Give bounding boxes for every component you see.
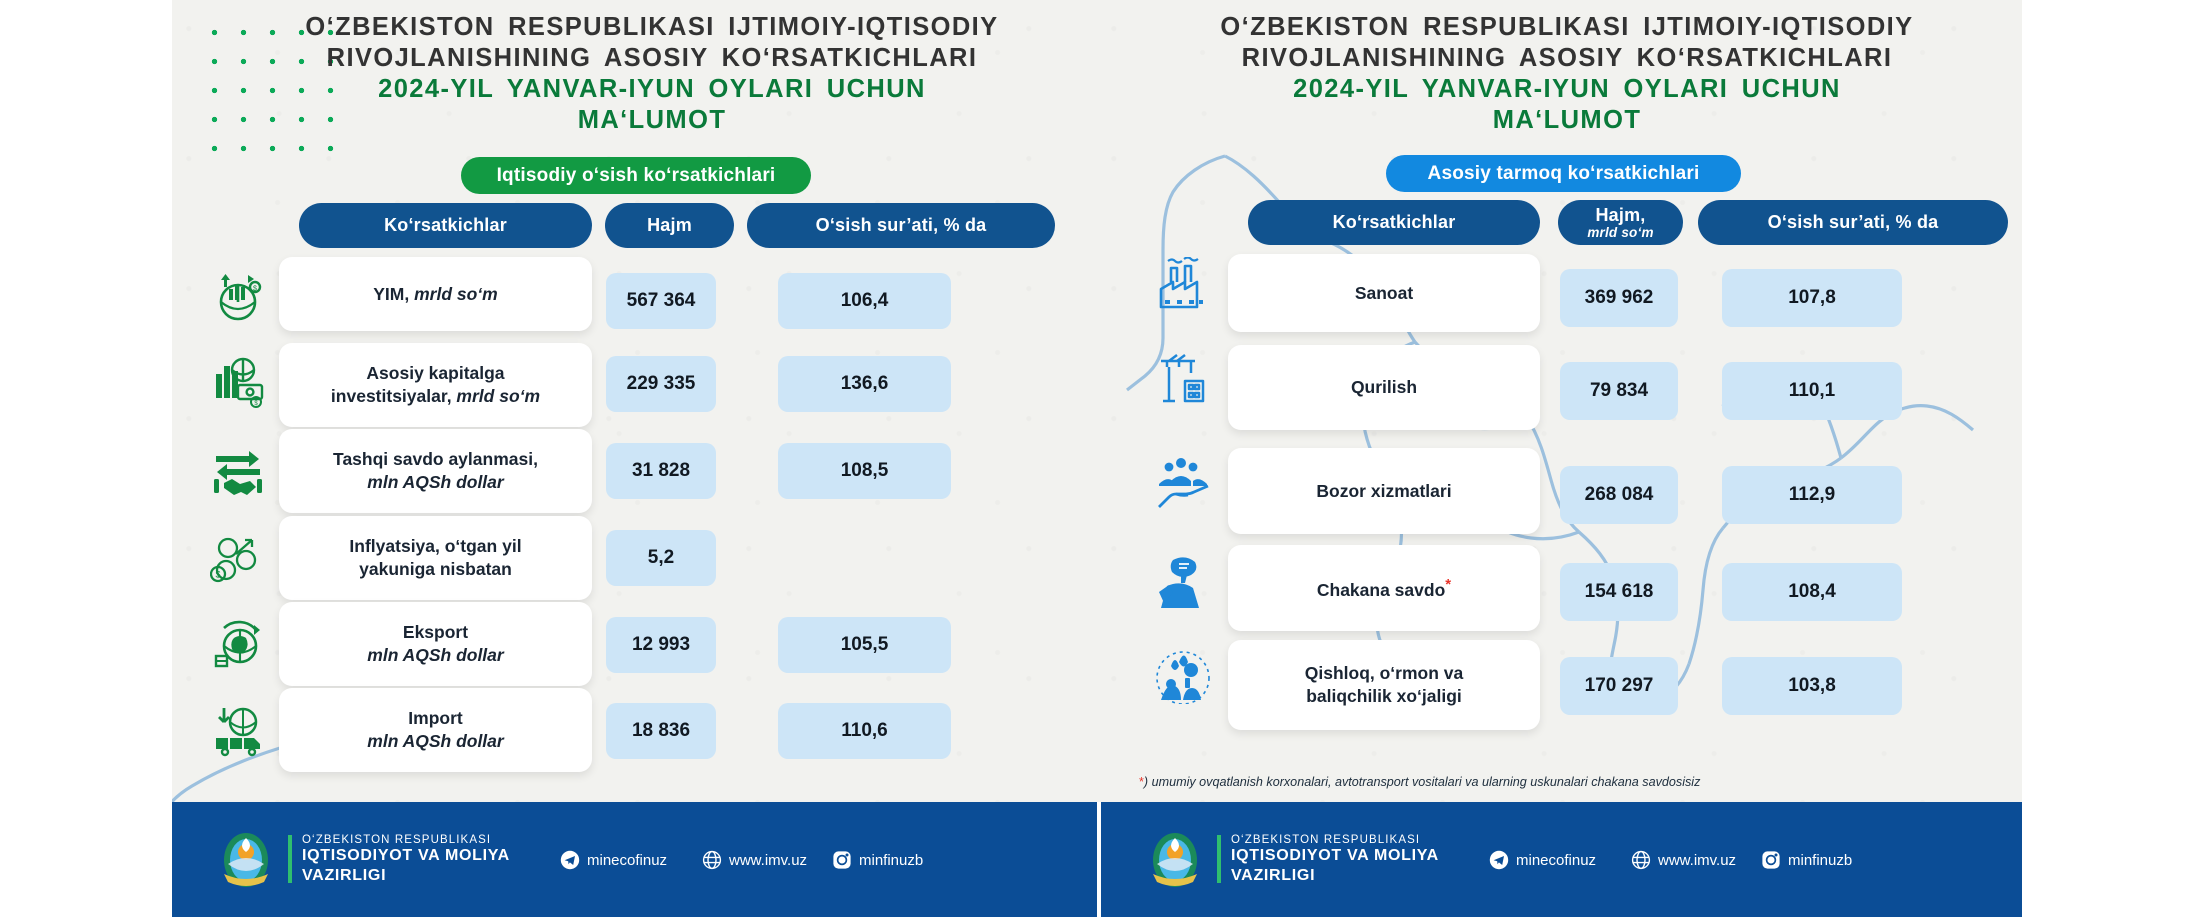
- export-globe-icon: [210, 616, 266, 672]
- row-label-card: Tashqi savdo aylanmasi, mln AQSh dollar: [279, 429, 592, 513]
- ministry-name: O‘ZBEKISTON RESPUBLIKASI IQTISODIYOT VA …: [302, 834, 510, 886]
- heading-line-1: O‘ZBEKISTON RESPUBLIKASI IJTIMOIY-IQTISO…: [1187, 12, 1947, 43]
- svg-text:$: $: [253, 286, 257, 293]
- row-label: Sanoat: [1355, 282, 1413, 305]
- row-growth-chip: 103,8: [1722, 657, 1902, 715]
- accent-bar: [288, 835, 292, 883]
- column-header-growth: O‘sish sur’ati, % da: [747, 203, 1055, 248]
- panel-heading: O‘ZBEKISTON RESPUBLIKASI IJTIMOIY-IQTISO…: [1187, 12, 1947, 136]
- row-label-card: Eksport mln AQSh dollar: [279, 602, 592, 686]
- row-label: Chakana savdo*: [1317, 575, 1451, 602]
- footer-link-label: www.imv.uz: [1658, 852, 1736, 869]
- column-header-volume: Hajm: [605, 203, 734, 248]
- trade-handshake-icon: [210, 443, 266, 499]
- row-label: Eksport mln AQSh dollar: [367, 621, 503, 667]
- footer-bar: O‘ZBEKISTON RESPUBLIKASI IQTISODIYOT VA …: [172, 802, 2022, 917]
- row-growth-chip: 105,5: [778, 617, 951, 673]
- row-label-card: Chakana savdo*: [1228, 545, 1540, 631]
- row-growth-chip: 108,4: [1722, 563, 1902, 621]
- row-growth-chip: 108,5: [778, 443, 951, 499]
- row-label: Inflyatsiya, o‘tgan yil yakuniga nisbata…: [349, 535, 521, 581]
- svg-text:$: $: [215, 570, 220, 580]
- row-volume-chip: 268 084: [1560, 466, 1678, 524]
- row-volume-chip: 154 618: [1560, 563, 1678, 621]
- footnote: *) umumiy ovqatlanish korxonalari, avtot…: [1139, 775, 1700, 789]
- section-badge-sector-indicators[interactable]: Asosiy tarmoq ko‘rsatkichlari: [1386, 155, 1741, 192]
- telegram-icon: [560, 850, 580, 870]
- footer-link-website[interactable]: www.imv.uz: [702, 850, 807, 870]
- row-growth-chip: 106,4: [778, 273, 951, 329]
- heading-line-4: MA‘LUMOT: [1187, 105, 1947, 136]
- heading-line-1: O‘ZBEKISTON RESPUBLIKASI IJTIMOIY-IQTISO…: [272, 12, 1032, 43]
- column-header-indicator: Ko‘rsatkichlar: [299, 203, 592, 248]
- crane-construction-icon: [1155, 351, 1211, 407]
- instagram-icon: [1761, 850, 1781, 870]
- row-label: Qurilish: [1351, 376, 1417, 399]
- section-badge-economic-growth[interactable]: Iqtisodiy o‘sish ko‘rsatkichlari: [461, 157, 811, 194]
- panel-economic-growth: O‘ZBEKISTON RESPUBLIKASI IJTIMOIY-IQTISO…: [172, 0, 1097, 917]
- telegram-icon: [1489, 850, 1509, 870]
- row-label: Tashqi savdo aylanmasi, mln AQSh dollar: [333, 448, 538, 494]
- row-volume-chip: 12 993: [606, 617, 716, 673]
- row-label: Qishloq, o‘rmon va baliqchilik xo‘jaligi: [1305, 662, 1464, 708]
- heading-line-3: 2024-YIL YANVAR-IYUN OYLARI UCHUN: [1187, 74, 1947, 105]
- row-label-card: Qishloq, o‘rmon va baliqchilik xo‘jaligi: [1228, 640, 1540, 730]
- footer-link-label: minfinuzb: [859, 852, 923, 869]
- footer-link-label: minecofinuz: [1516, 852, 1596, 869]
- infographic-root: O‘ZBEKISTON RESPUBLIKASI IJTIMOIY-IQTISO…: [0, 0, 2211, 917]
- row-label: Bozor xizmatlari: [1316, 480, 1451, 503]
- import-truck-icon: [210, 702, 266, 758]
- accent-bar: [1217, 835, 1221, 883]
- row-label: Asosiy kapitalga investitsiyalar, mrld s…: [331, 362, 540, 408]
- row-label-card: Inflyatsiya, o‘tgan yil yakuniga nisbata…: [279, 516, 592, 600]
- row-volume-chip: 18 836: [606, 703, 716, 759]
- retail-trade-icon: [1155, 552, 1211, 608]
- panel-heading: O‘ZBEKISTON RESPUBLIKASI IJTIMOIY-IQTISO…: [272, 12, 1032, 136]
- column-header-indicator: Ko‘rsatkichlar: [1248, 200, 1540, 245]
- footer-link-label: www.imv.uz: [729, 852, 807, 869]
- heading-line-4: MA‘LUMOT: [272, 105, 1032, 136]
- panel-sector-indicators: O‘ZBEKISTON RESPUBLIKASI IJTIMOIY-IQTISO…: [1097, 0, 2022, 917]
- footer-block-left: O‘ZBEKISTON RESPUBLIKASI IQTISODIYOT VA …: [172, 802, 1097, 917]
- row-label-card: YIM, mrld so‘m: [279, 257, 592, 331]
- asterisk-marker: *: [1445, 576, 1451, 593]
- row-growth-chip: 112,9: [1722, 466, 1902, 524]
- agriculture-icon: [1155, 648, 1211, 704]
- globe-icon: [702, 850, 722, 870]
- row-volume-chip: 369 962: [1560, 269, 1678, 327]
- row-growth-chip: 107,8: [1722, 269, 1902, 327]
- row-label-card: Import mln AQSh dollar: [279, 688, 592, 772]
- row-volume-chip: 170 297: [1560, 657, 1678, 715]
- state-emblem-icon: [1149, 830, 1201, 890]
- row-growth-chip: 136,6: [778, 356, 951, 412]
- globe-icon: [1631, 850, 1651, 870]
- row-volume-chip: 5,2: [606, 530, 716, 586]
- row-volume-chip: 229 335: [606, 356, 716, 412]
- footnote-text: ) umumiy ovqatlanish korxonalari, avtotr…: [1144, 775, 1701, 789]
- ministry-name: O‘ZBEKISTON RESPUBLIKASI IQTISODIYOT VA …: [1231, 834, 1439, 886]
- column-header-growth: O‘sish sur’ati, % da: [1698, 200, 2008, 245]
- footer-link-label: minfinuzb: [1788, 852, 1852, 869]
- footer-link-telegram[interactable]: minecofinuz: [1489, 850, 1596, 870]
- inflation-coins-icon: $: [210, 530, 266, 586]
- footer-link-instagram[interactable]: minfinuzb: [1761, 850, 1852, 870]
- row-label: Import mln AQSh dollar: [367, 707, 503, 753]
- row-label-card: Qurilish: [1228, 345, 1540, 430]
- row-volume-chip: 31 828: [606, 443, 716, 499]
- column-header-volume: Hajm, mrld so‘m: [1558, 200, 1683, 245]
- heading-line-2: RIVOJLANISHINING ASOSIY KO‘RSATKICHLARI: [272, 43, 1032, 74]
- row-label: YIM, mrld so‘m: [373, 283, 497, 306]
- factory-icon: [1155, 257, 1211, 313]
- services-people-icon: [1155, 455, 1211, 511]
- row-volume-chip: 567 364: [606, 273, 716, 329]
- globe-growth-icon: $: [210, 267, 266, 323]
- heading-line-2: RIVOJLANISHINING ASOSIY KO‘RSATKICHLARI: [1187, 43, 1947, 74]
- footer-link-website[interactable]: www.imv.uz: [1631, 850, 1736, 870]
- row-growth-chip: 110,1: [1722, 362, 1902, 420]
- heading-line-3: 2024-YIL YANVAR-IYUN OYLARI UCHUN: [272, 74, 1032, 105]
- instagram-icon: [832, 850, 852, 870]
- row-growth-chip: 110,6: [778, 703, 951, 759]
- row-volume-chip: 79 834: [1560, 362, 1678, 420]
- footer-link-telegram[interactable]: minecofinuz: [560, 850, 667, 870]
- state-emblem-icon: [220, 830, 272, 890]
- investment-chart-icon: $: [210, 354, 266, 410]
- row-label-card: Asosiy kapitalga investitsiyalar, mrld s…: [279, 343, 592, 427]
- row-label-card: Bozor xizmatlari: [1228, 448, 1540, 534]
- footer-block-right: O‘ZBEKISTON RESPUBLIKASI IQTISODIYOT VA …: [1101, 802, 2022, 917]
- footer-link-label: minecofinuz: [587, 852, 667, 869]
- footer-link-instagram[interactable]: minfinuzb: [832, 850, 923, 870]
- row-label-card: Sanoat: [1228, 254, 1540, 332]
